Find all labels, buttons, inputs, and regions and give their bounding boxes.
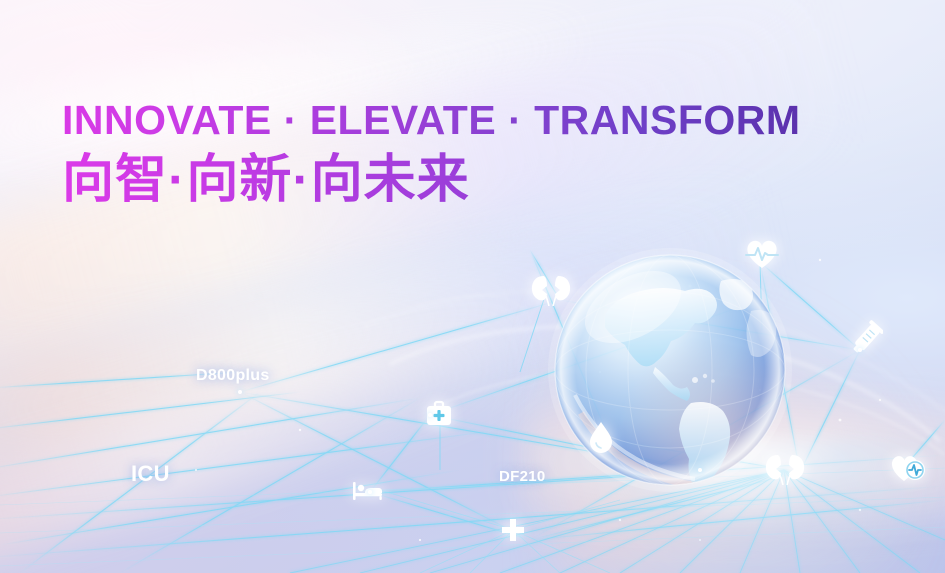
medical-cross-icon xyxy=(501,518,525,542)
kidneys-icon xyxy=(762,451,808,485)
network-node xyxy=(238,390,242,394)
product-label-icu: ICU xyxy=(131,461,170,487)
network-node xyxy=(368,490,372,494)
heart-pulse-icon xyxy=(744,238,780,270)
product-label-df210: DF210 xyxy=(499,468,546,485)
headline-block: INNOVATE · ELEVATE · TRANSFORM 向智·向新·向未来 xyxy=(62,98,801,209)
network-node xyxy=(858,348,862,352)
blood-droplet-icon xyxy=(588,421,614,453)
product-label-d800plus: D800plus xyxy=(196,367,270,385)
earth-globe xyxy=(545,245,795,495)
heart-monitor-icon xyxy=(889,452,927,484)
network-lines xyxy=(0,0,945,573)
network-node xyxy=(698,468,702,472)
page-title-chinese: 向智·向新·向未来 xyxy=(62,152,801,209)
hero-banner: INNOVATE · ELEVATE · TRANSFORM 向智·向新·向未来… xyxy=(0,0,945,573)
syringe-icon xyxy=(849,320,883,358)
kidneys-icon xyxy=(528,272,574,306)
network-node xyxy=(428,413,432,417)
page-title-english: INNOVATE · ELEVATE · TRANSFORM xyxy=(62,98,801,144)
